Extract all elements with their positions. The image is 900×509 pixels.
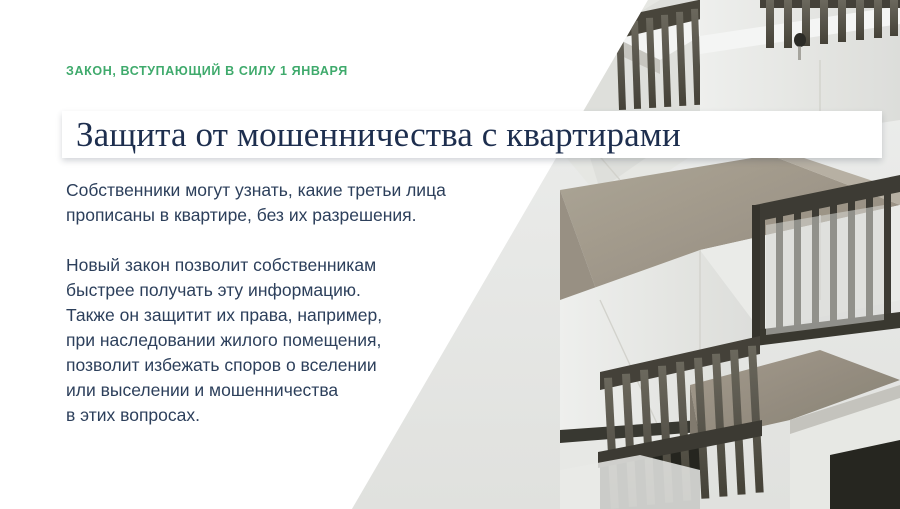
slide-root: ЗАКОН, ВСТУПАЮЩИЙ В СИЛУ 1 ЯНВАРЯ Защита… — [0, 0, 900, 509]
title-band: Защита от мошенничества с квартирами — [62, 111, 882, 158]
page-title: Защита от мошенничества с квартирами — [62, 117, 681, 152]
eyebrow-label: ЗАКОН, ВСТУПАЮЩИЙ В СИЛУ 1 ЯНВАРЯ — [66, 64, 348, 78]
body-paragraph-2: Новый закон позволит собственникам быстр… — [66, 253, 516, 428]
body-paragraph-1: Собственники могут узнать, какие третьи … — [66, 178, 516, 228]
body-column: Собственники могут узнать, какие третьи … — [66, 178, 516, 428]
